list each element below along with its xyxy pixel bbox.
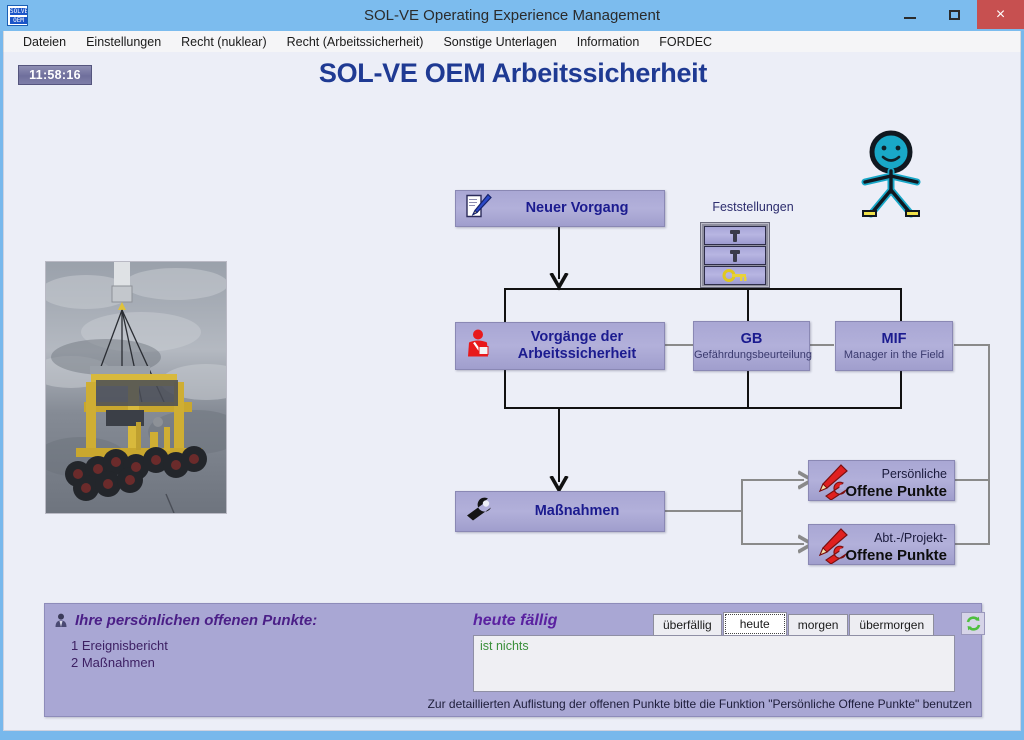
due-tabs: überfällig heute morgen übermorgen (653, 612, 935, 636)
window-controls: × (887, 0, 1024, 31)
mif-subtitle: Manager in the Field (836, 349, 952, 362)
vorgaenge-label-line2: Arbeitssicherheit (518, 346, 636, 362)
list-item[interactable]: 2 Maßnahmen (71, 654, 168, 671)
tab-heute[interactable]: heute (723, 612, 787, 636)
drawer-handle-icon (733, 250, 737, 262)
menu-bar: Dateien Einstellungen Recht (nuklear) Re… (3, 31, 1021, 52)
menu-item-dateien[interactable]: Dateien (13, 35, 76, 49)
neuer-vorgang-button[interactable]: Neuer Vorgang (455, 190, 665, 227)
menu-item-einstellungen[interactable]: Einstellungen (76, 35, 171, 49)
massnahmen-button[interactable]: Maßnahmen (455, 491, 665, 532)
title-bar: SOLVE OEM SOL-VE Operating Experience Ma… (0, 0, 1024, 31)
panel-heading: Ihre persönlichen offenen Punkte: (54, 612, 317, 629)
persoenliche-op-line2: Offene Punkte (845, 483, 947, 500)
client-area: 11:58:16 SOL-VE OEM Arbeitssicherheit (3, 52, 1021, 731)
tab-morgen[interactable]: morgen (788, 614, 849, 636)
refresh-button[interactable] (961, 612, 985, 635)
abt-projekt-op-line2: Offene Punkte (845, 547, 947, 564)
person-icon (54, 613, 68, 628)
persoenliche-op-line1: Persönliche (882, 467, 947, 481)
abt-projekt-offene-punkte-button[interactable]: Abt.-/Projekt- Offene Punkte (808, 524, 955, 565)
open-points-list: 1 Ereignisbericht 2 Maßnahmen (71, 637, 168, 671)
vorgaenge-arbeitssicherheit-button[interactable]: Vorgänge der Arbeitssicherheit (455, 322, 665, 370)
gb-title: GB (741, 331, 763, 347)
tab-ueberfaellig[interactable]: überfällig (653, 614, 722, 636)
menu-item-sonstige-unterlagen[interactable]: Sonstige Unterlagen (433, 35, 566, 49)
findings-label: Feststellungen (638, 200, 868, 214)
gb-subtitle: Gefährdungsbeurteilung (694, 349, 809, 362)
window-title: SOL-VE Operating Experience Management (0, 0, 1024, 31)
maximize-icon (949, 10, 960, 20)
vorgaenge-label-line1: Vorgänge der (531, 329, 623, 345)
injured-person-icon (464, 329, 492, 364)
document-pen-icon (464, 193, 492, 224)
cabinet-drawer-3[interactable] (704, 266, 766, 285)
refresh-icon (965, 615, 982, 632)
menu-item-fordec[interactable]: FORDEC (649, 35, 722, 49)
close-button[interactable]: × (977, 0, 1024, 29)
cabinet-drawer-2[interactable] (704, 246, 766, 265)
close-icon: × (996, 6, 1005, 24)
minimize-icon (904, 17, 916, 19)
persoenliche-offene-punkte-button[interactable]: Persönliche Offene Punkte (808, 460, 955, 501)
cabinet-drawer-1[interactable] (704, 226, 766, 245)
minimize-button[interactable] (887, 0, 932, 29)
page-title: SOL-VE OEM Arbeitssicherheit (4, 58, 1021, 89)
findings-cabinet-button[interactable] (700, 222, 770, 288)
gb-label: GB Gefährdungsbeurteilung (694, 331, 809, 361)
list-item[interactable]: 1 Ereignisbericht (71, 637, 168, 654)
maximize-button[interactable] (932, 0, 977, 29)
menu-item-recht-nuklear[interactable]: Recht (nuklear) (171, 35, 276, 49)
wrench-icon (464, 496, 494, 527)
crane-photo (45, 261, 227, 514)
menu-item-recht-arbeitssicherheit[interactable]: Recht (Arbeitssicherheit) (277, 35, 434, 49)
key-icon (722, 269, 748, 282)
persoenliche-op-text: Persönliche Offene Punkte (845, 465, 947, 501)
due-content-area[interactable]: ist nichts (473, 635, 955, 692)
gb-button[interactable]: GB Gefährdungsbeurteilung (693, 321, 810, 371)
abt-projekt-op-text: Abt.-/Projekt- Offene Punkte (845, 529, 947, 565)
mif-button[interactable]: MIF Manager in the Field (835, 321, 953, 371)
personal-open-points-panel: Ihre persönlichen offenen Punkte: 1 Erei… (44, 603, 982, 717)
panel-footer-hint: Zur detaillierten Auflistung der offenen… (428, 697, 972, 711)
menu-item-information[interactable]: Information (567, 35, 650, 49)
application-window: SOLVE OEM SOL-VE Operating Experience Ma… (0, 0, 1024, 740)
mif-title: MIF (882, 331, 907, 347)
panel-heading-text: Ihre persönlichen offenen Punkte: (75, 612, 317, 629)
tab-uebermorgen[interactable]: übermorgen (849, 614, 934, 636)
mif-label: MIF Manager in the Field (836, 331, 952, 361)
drawer-handle-icon (733, 230, 737, 242)
abt-projekt-op-line1: Abt.-/Projekt- (874, 531, 947, 545)
due-title: heute fällig (473, 612, 557, 630)
due-content-text: ist nichts (480, 639, 529, 653)
